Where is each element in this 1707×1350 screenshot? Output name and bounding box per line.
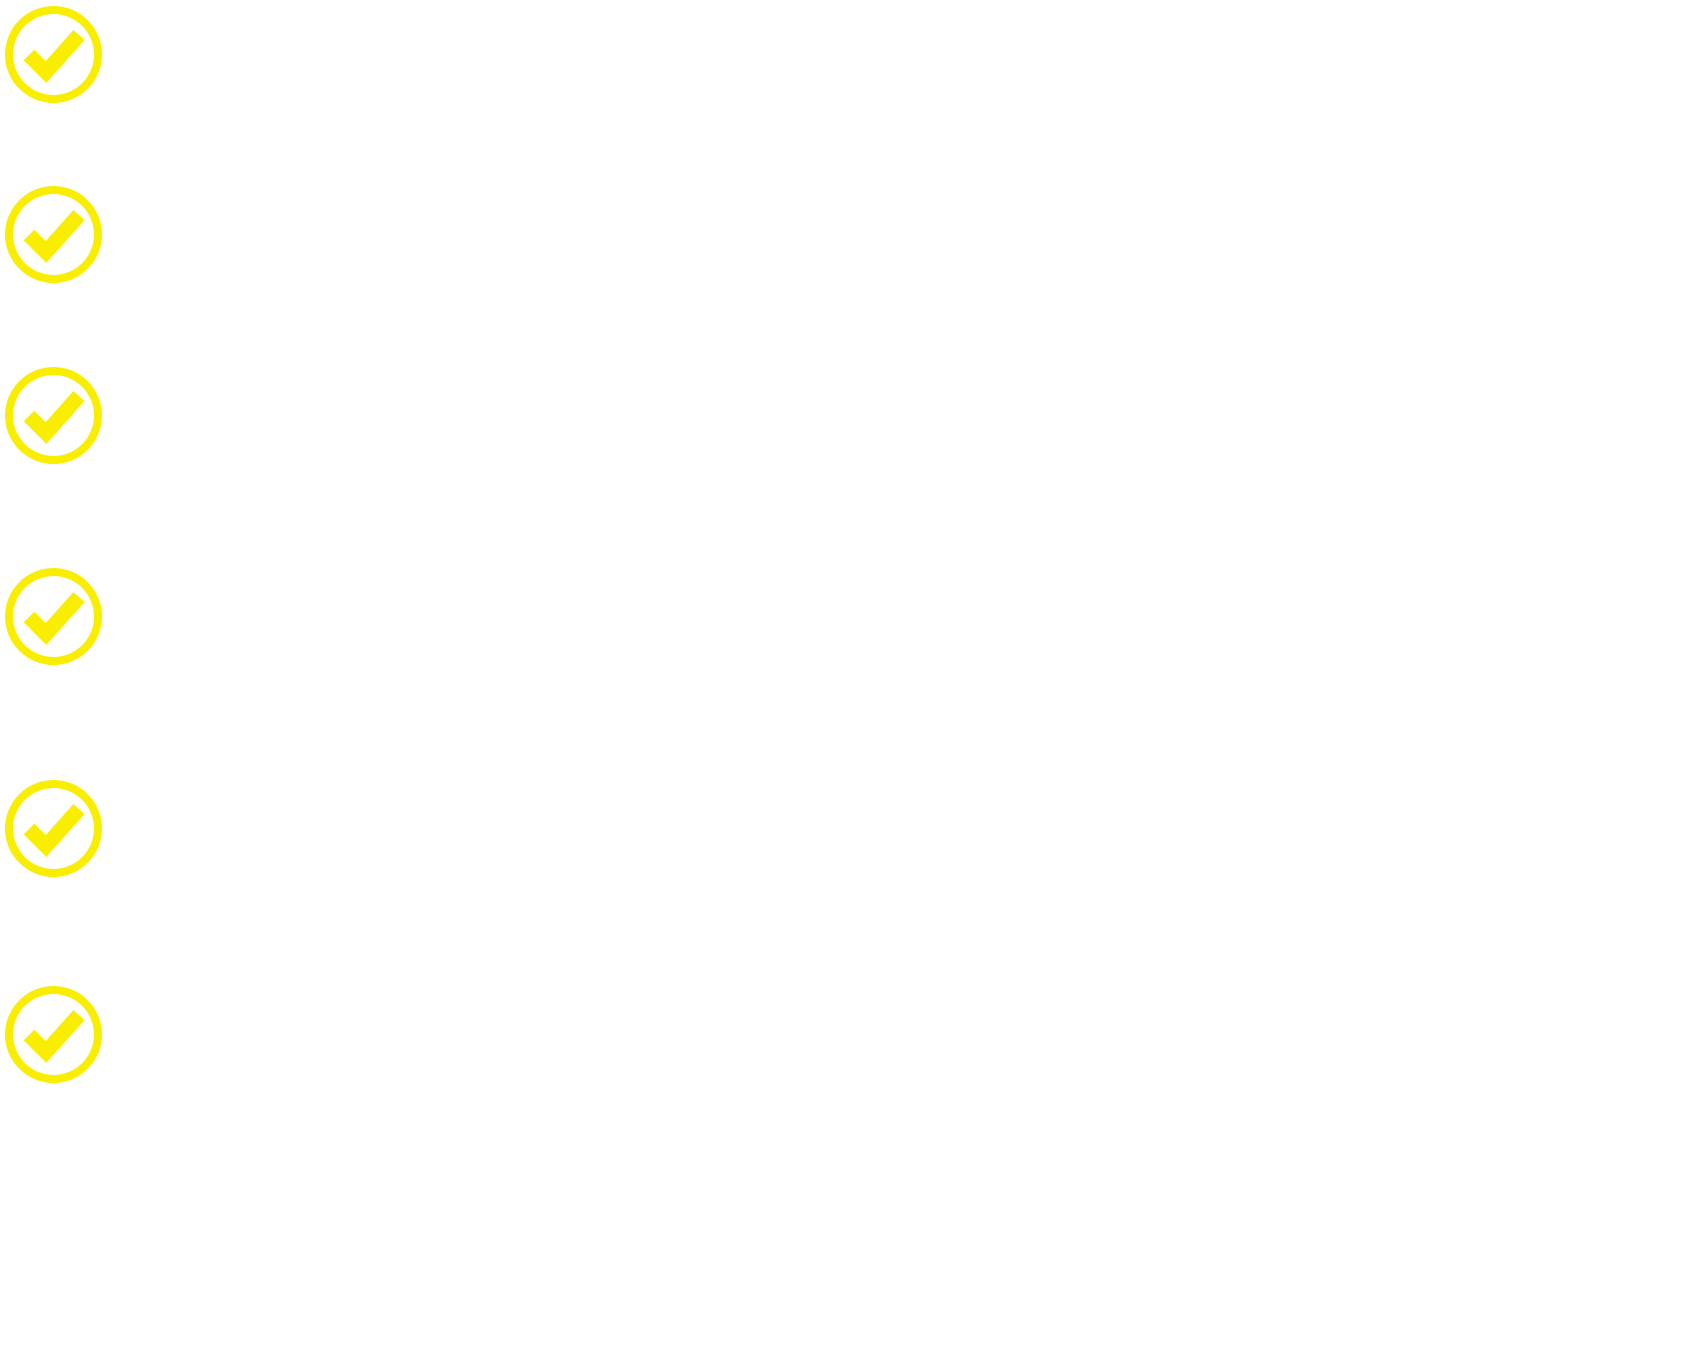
list-item[interactable]: [3, 365, 1707, 466]
list-item[interactable]: [3, 778, 1707, 879]
check-circle-icon: [3, 566, 104, 667]
check-circle-icon: [3, 4, 104, 105]
list-item[interactable]: [3, 4, 1707, 105]
list-item[interactable]: [3, 184, 1707, 285]
page-root: [0, 0, 1707, 1350]
check-circle-icon: [3, 984, 104, 1085]
check-circle-icon: [3, 778, 104, 879]
list-item[interactable]: [3, 984, 1707, 1085]
check-circle-icon: [3, 365, 104, 466]
check-circle-icon: [3, 184, 104, 285]
list-item[interactable]: [3, 566, 1707, 667]
